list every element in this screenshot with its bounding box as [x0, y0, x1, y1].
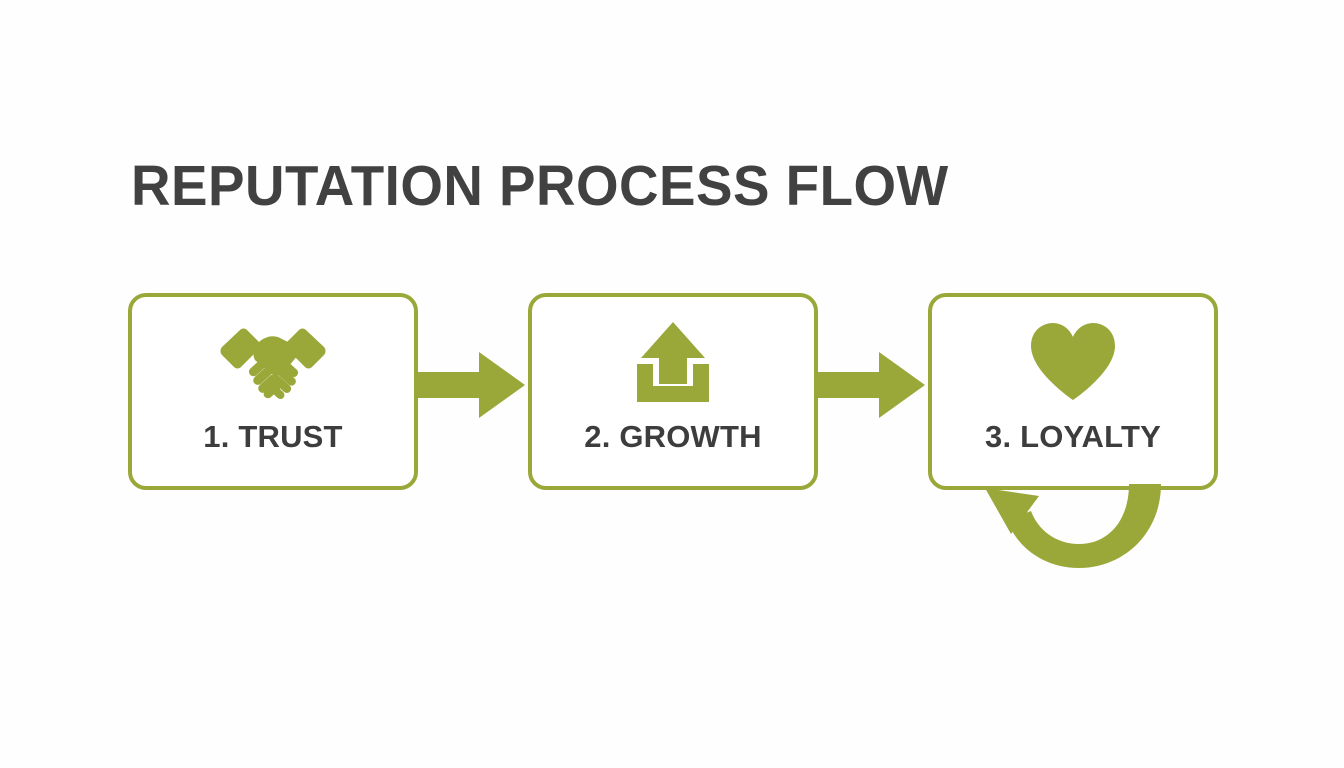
right-arrow-icon-1	[417, 345, 527, 425]
step-label-trust: 1. TRUST	[132, 419, 414, 455]
step-card-growth[interactable]: 2. GROWTH	[528, 293, 818, 490]
heart-icon	[932, 319, 1214, 405]
process-flow-diagram: 1. TRUST 2. GROWTH	[0, 0, 1344, 768]
right-arrow-icon-2	[817, 345, 927, 425]
curved-loop-back-arrow-icon	[975, 482, 1165, 572]
step-card-trust[interactable]: 1. TRUST	[128, 293, 418, 490]
handshake-icon	[132, 319, 414, 405]
diagram-canvas: REPUTATION PROCESS FLOW	[0, 0, 1344, 768]
step-label-growth: 2. GROWTH	[532, 419, 814, 455]
step-label-loyalty: 3. LOYALTY	[932, 419, 1214, 455]
upload-growth-arrow-icon	[532, 319, 814, 405]
step-card-loyalty[interactable]: 3. LOYALTY	[928, 293, 1218, 490]
